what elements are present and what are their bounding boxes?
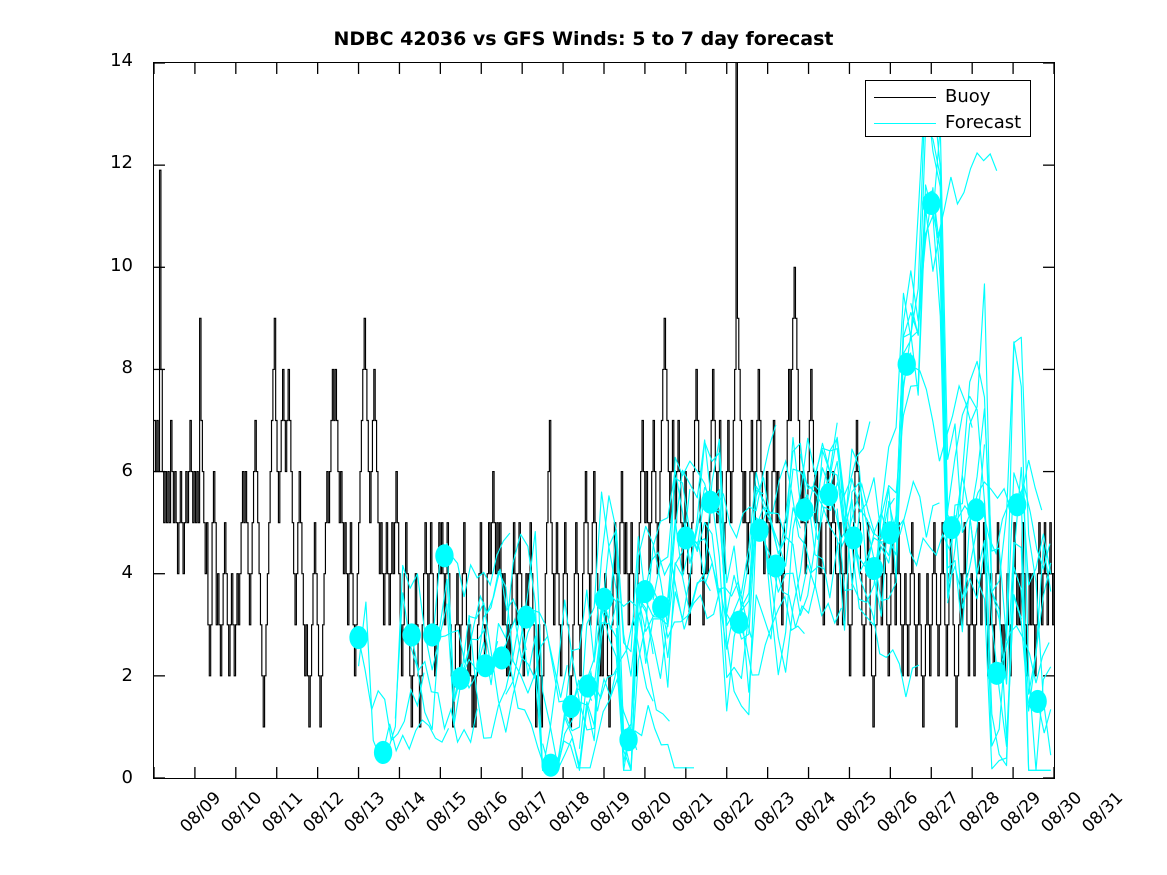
forecast-marker (476, 654, 494, 677)
buoy-series (154, 63, 1054, 727)
forecast-marker (844, 526, 862, 549)
forecast-marker (898, 353, 916, 376)
x-tick-label: 08/15 (422, 788, 471, 837)
chart-figure: NDBC 42036 vs GFS Winds: 5 to 7 day fore… (0, 0, 1167, 875)
legend-label-forecast: Forecast (945, 110, 1021, 136)
legend-label-buoy: Buoy (945, 84, 990, 110)
legend: Buoy Forecast (865, 80, 1031, 137)
x-tick-label: 08/26 (873, 788, 922, 837)
legend-item-forecast: Forecast (866, 110, 1030, 136)
forecast-marker (562, 695, 580, 718)
x-tick-label: 08/17 (504, 788, 553, 837)
x-tick-label: 08/20 (627, 788, 676, 837)
x-tick-label: 08/27 (914, 788, 963, 837)
x-tick-label: 08/22 (709, 788, 758, 837)
buoy-line (154, 63, 1054, 727)
x-tick-label: 08/25 (832, 788, 881, 837)
legend-line-icon-buoy (874, 97, 936, 98)
x-tick-label: 08/28 (955, 788, 1004, 837)
x-tick-label: 08/10 (217, 788, 266, 837)
forecast-marker (619, 728, 637, 751)
x-tick-label: 08/14 (381, 788, 430, 837)
x-tick-label: 08/23 (750, 788, 799, 837)
forecast-marker (767, 554, 785, 577)
x-tick-label: 08/18 (545, 788, 594, 837)
forecast-marker (922, 192, 940, 215)
forecast-marker (943, 516, 961, 539)
forecast-marker (652, 595, 670, 618)
forecast-marker (595, 588, 613, 611)
legend-item-buoy: Buoy (866, 84, 1030, 110)
x-tick-label: 08/12 (299, 788, 348, 837)
x-tick-label: 08/21 (668, 788, 717, 837)
forecast-marker (636, 580, 654, 603)
legend-line-icon-forecast (874, 123, 936, 124)
forecast-marker (349, 626, 367, 649)
forecast-marker (1028, 690, 1046, 713)
forecast-marker (435, 544, 453, 567)
forecast-marker (967, 498, 985, 521)
x-tick-label: 08/11 (258, 788, 307, 837)
plot-area (153, 62, 1055, 779)
forecast-stem (383, 720, 448, 752)
x-tick-label: 08/31 (1078, 788, 1127, 837)
x-tick-label: 08/13 (340, 788, 389, 837)
forecast-marker (493, 646, 511, 669)
forecast-marker (881, 521, 899, 544)
forecast-marker (1008, 493, 1026, 516)
forecast-marker (452, 667, 470, 690)
forecast-marker (542, 754, 560, 777)
forecast-marker (795, 498, 813, 521)
forecast-marker (730, 611, 748, 634)
forecast-marker (701, 491, 719, 514)
forecast-marker (865, 557, 883, 580)
forecast-marker (374, 741, 392, 764)
forecast-stem (629, 705, 694, 767)
plot-canvas (154, 63, 1054, 778)
x-tick-label: 08/09 (176, 788, 225, 837)
forecast-marker (820, 483, 838, 506)
x-tick-label: 08/24 (791, 788, 840, 837)
forecast-marker (677, 526, 695, 549)
x-tick-label: 08/16 (463, 788, 512, 837)
forecast-marker (517, 606, 535, 629)
forecast-marker (988, 662, 1006, 685)
x-tick-label: 08/19 (586, 788, 635, 837)
forecast-marker (578, 674, 596, 697)
forecast-marker (403, 623, 421, 646)
forecast-marker (750, 519, 768, 542)
x-tick-label: 08/30 (1037, 788, 1086, 837)
x-tick-label: 08/29 (996, 788, 1045, 837)
forecast-marker (423, 623, 441, 646)
